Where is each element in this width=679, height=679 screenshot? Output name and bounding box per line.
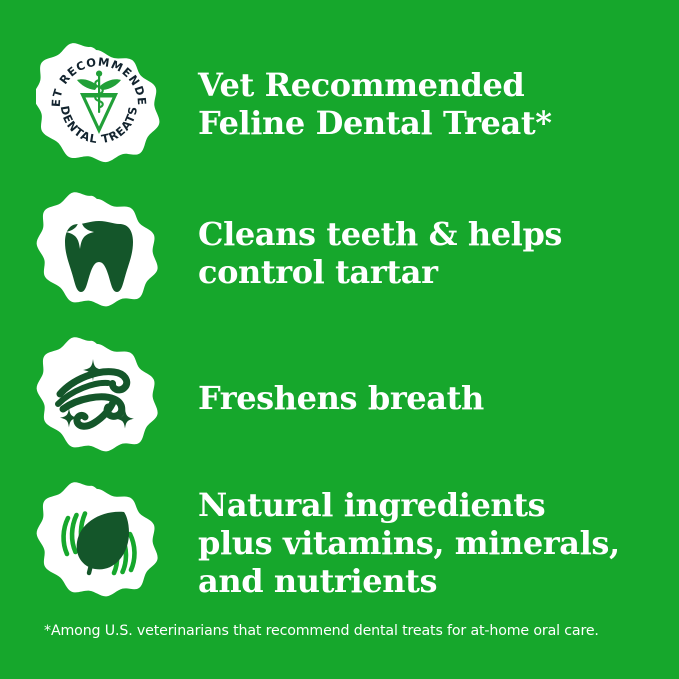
feature-label: Cleans teeth & helps control tartar bbox=[198, 216, 562, 292]
feature-label: Vet Recommended Feline Dental Treat* bbox=[198, 67, 552, 143]
feature-label: Freshens breath bbox=[198, 380, 484, 418]
fresh-breath-wind-icon bbox=[36, 336, 162, 462]
product-benefits-poster: VET RECOMMENDED DENTAL TREATS bbox=[0, 0, 679, 679]
feature-row-natural-ingredients: Natural ingredients plus vitamins, miner… bbox=[36, 481, 656, 607]
vet-recommended-seal-icon: VET RECOMMENDED DENTAL TREATS bbox=[36, 42, 162, 168]
sparkling-tooth-icon bbox=[36, 191, 162, 317]
footnote-text: *Among U.S. veterinarians that recommend… bbox=[44, 622, 644, 640]
feature-row-vet-recommended: VET RECOMMENDED DENTAL TREATS bbox=[36, 42, 656, 168]
natural-leaf-icon bbox=[36, 481, 162, 607]
feature-label: Natural ingredients plus vitamins, miner… bbox=[198, 487, 620, 600]
feature-row-freshens-breath: Freshens breath bbox=[36, 336, 656, 462]
feature-row-cleans-teeth: Cleans teeth & helps control tartar bbox=[36, 191, 656, 317]
